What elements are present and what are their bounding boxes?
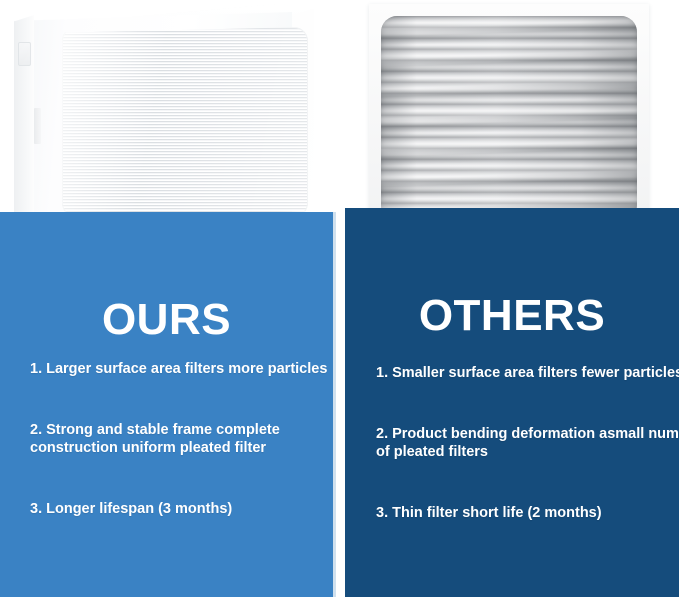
others-feature-item-3: 3. Thin filter short life (2 months)	[376, 504, 679, 523]
ours-feature-list: 1. Larger surface area filters more part…	[0, 360, 389, 518]
ours-filter-pleat-media	[62, 27, 308, 217]
ours-panel: OURS 1. Larger surface area filters more…	[0, 212, 333, 597]
ours-feature-item-1: 1. Larger surface area filters more part…	[30, 360, 363, 379]
others-panel-title: OTHERS	[345, 294, 679, 338]
ours-feature-item-2: 2. Strong and stable frame complete cons…	[30, 421, 363, 458]
product-comparison-graphic: OURS 1. Larger surface area filters more…	[0, 0, 679, 597]
panel-divider-gap	[336, 0, 345, 597]
ours-feature-item-3: 3. Longer lifespan (3 months)	[30, 500, 363, 519]
others-feature-list: 1. Smaller surface area filters fewer pa…	[345, 364, 679, 522]
ours-filter-embossed-marking	[18, 42, 31, 66]
ours-product-image	[14, 4, 314, 237]
ours-filter-pull-tab	[34, 108, 41, 144]
others-filter-pleat-media	[381, 16, 637, 221]
others-feature-item-1: 1. Smaller surface area filters fewer pa…	[376, 364, 679, 383]
others-panel: OTHERS 1. Smaller surface area filters f…	[345, 208, 679, 597]
others-filter-fold-texture	[381, 16, 637, 221]
others-product-image	[369, 4, 649, 233]
ours-filter-highlight	[62, 27, 308, 217]
others-feature-item-2: 2. Product bending deformation asmall nu…	[376, 425, 679, 462]
ours-panel-title: OURS	[0, 298, 333, 342]
